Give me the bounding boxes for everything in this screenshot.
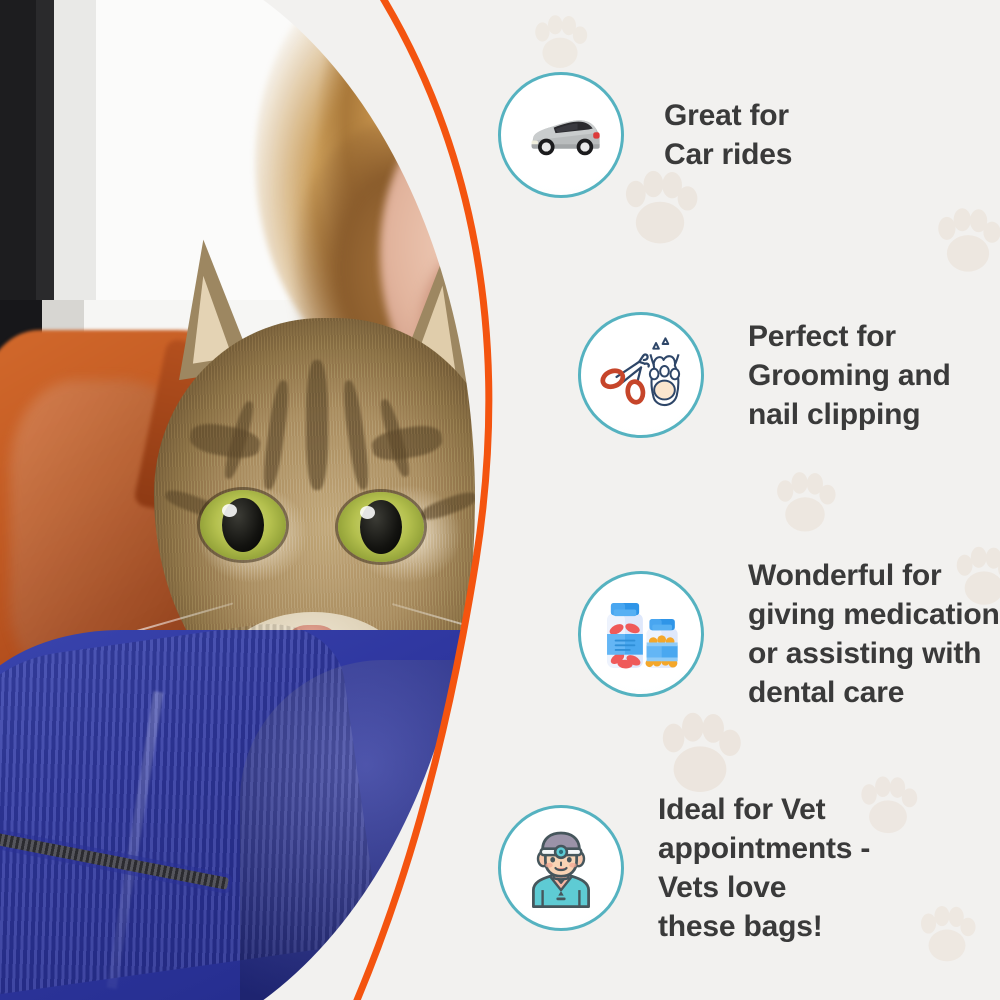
feature-row-grooming[interactable]: Perfect for Grooming and nail clipping — [578, 312, 951, 438]
feature-badge-medication — [578, 571, 704, 697]
feature-text: Ideal for Vet appointments - Vets love t… — [658, 790, 870, 946]
veterinarian-icon — [515, 822, 607, 914]
feature-text: Perfect for Grooming and nail clipping — [748, 317, 951, 434]
product-feature-infographic: Great for Car rides — [0, 0, 1000, 1000]
pill-bottles-icon — [594, 587, 688, 681]
feature-row-medication[interactable]: Wonderful for giving medication or assis… — [578, 556, 1000, 712]
feature-text: Great for Car rides — [664, 96, 792, 174]
feature-row-car-rides[interactable]: Great for Car rides — [498, 72, 792, 198]
feature-badge-vet — [498, 805, 624, 931]
feature-row-vet[interactable]: Ideal for Vet appointments - Vets love t… — [498, 790, 870, 946]
nail-clippers-paw-icon — [594, 328, 688, 422]
feature-badge-car — [498, 72, 624, 198]
feature-text: Wonderful for giving medication or assis… — [748, 556, 1000, 712]
feature-badge-grooming — [578, 312, 704, 438]
car-icon — [515, 89, 607, 181]
feature-list: Great for Car rides — [0, 0, 1000, 1000]
